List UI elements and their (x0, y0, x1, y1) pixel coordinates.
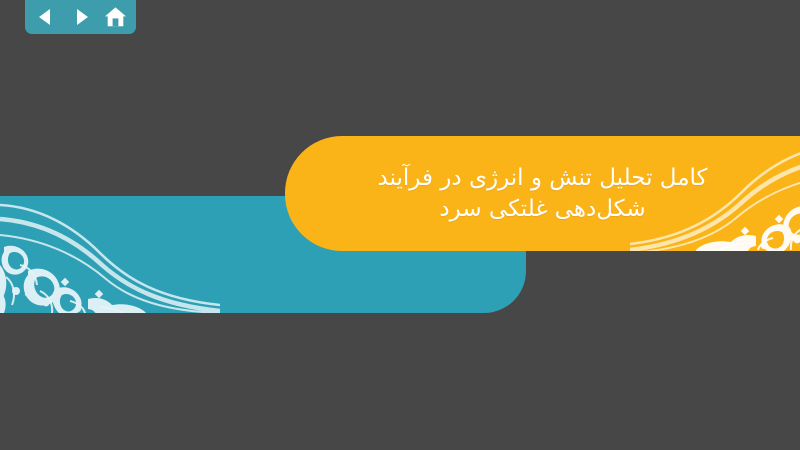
forward-button[interactable] (68, 4, 94, 30)
home-button[interactable] (103, 4, 129, 30)
triangle-left-icon (36, 7, 56, 27)
triangle-right-icon (71, 7, 91, 27)
navigation-bar (25, 0, 136, 34)
back-button[interactable] (33, 4, 59, 30)
slide-canvas: کامل تحلیل تنش و انرژی در فرآیند شکل‌دهی… (0, 0, 800, 450)
arabesque-ornament-teal (0, 196, 220, 313)
orange-banner (285, 136, 800, 251)
arabesque-ornament-orange (630, 136, 800, 251)
home-icon (104, 6, 127, 28)
